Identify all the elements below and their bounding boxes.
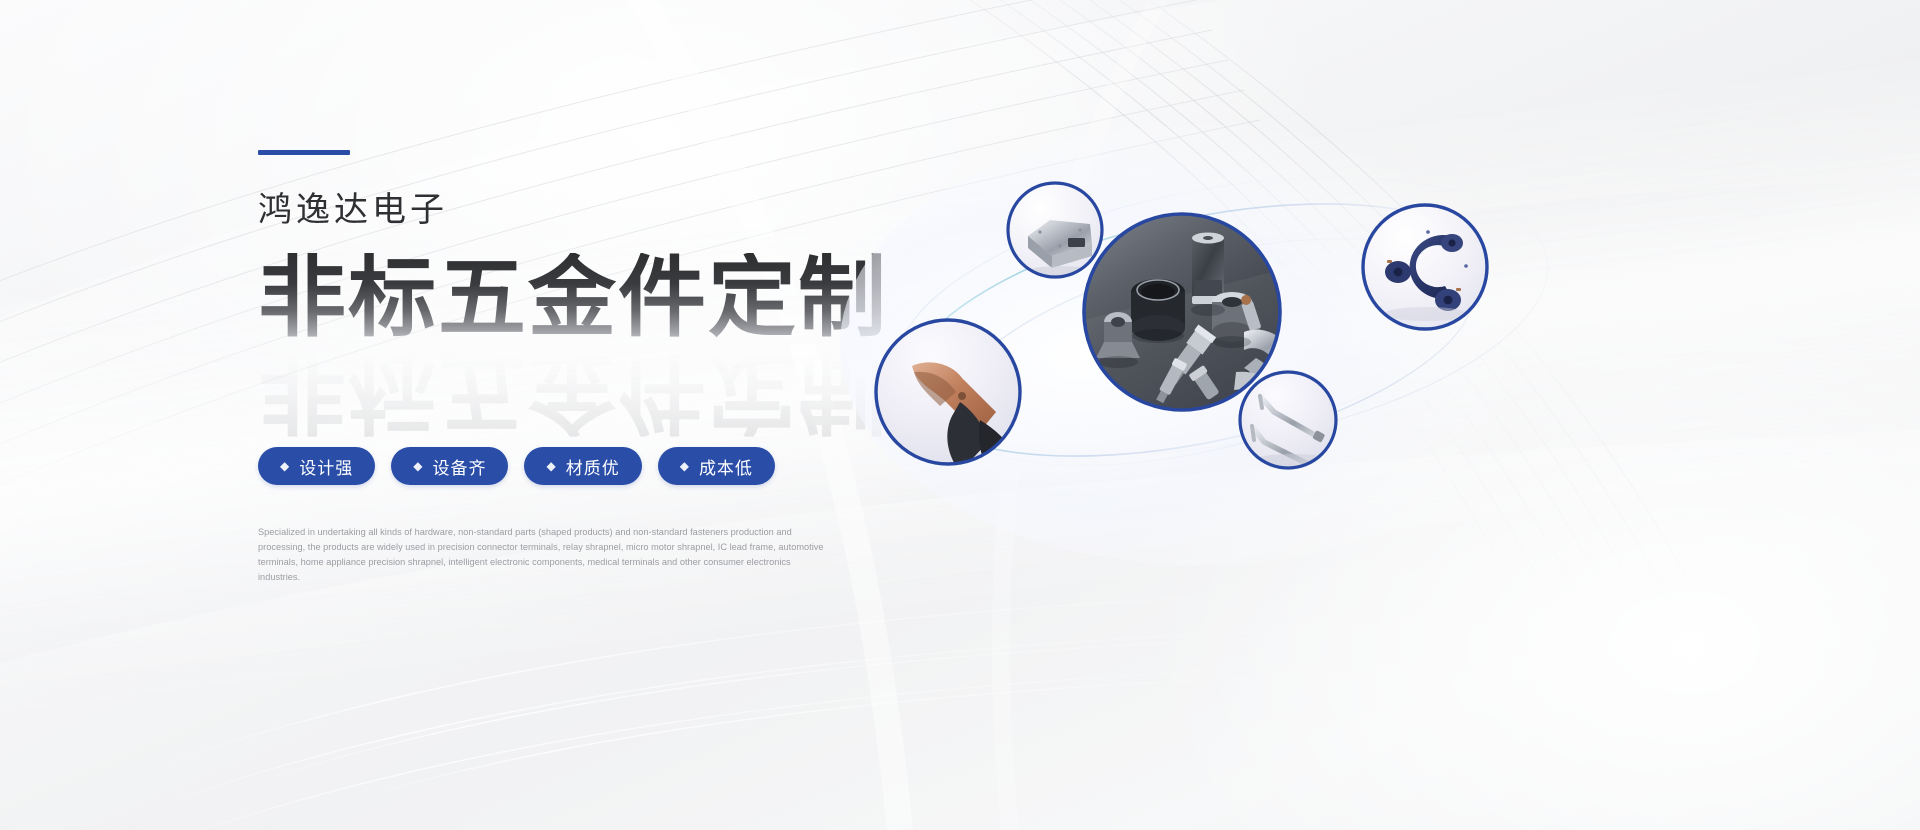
feature-badge-cost[interactable]: ◆ 成本低 <box>658 447 775 485</box>
product-showcase-cluster <box>900 120 1910 590</box>
diamond-icon: ◆ <box>546 460 556 472</box>
feature-badge-equipment[interactable]: ◆ 设备齐 <box>391 447 508 485</box>
feature-badge-label: 成本低 <box>699 454 753 479</box>
bubble-retaining-ring <box>1363 205 1487 329</box>
diamond-icon: ◆ <box>413 460 423 472</box>
feature-badge-label: 设计强 <box>299 454 353 479</box>
feature-badge-label: 设备齐 <box>432 454 486 479</box>
hero-banner: 鸿逸达电子 非标五金件定制 非标五金件定制 ◆ 设计强 ◆ 设备齐 ◆ 材质优 … <box>0 0 1920 830</box>
diamond-icon: ◆ <box>680 460 690 472</box>
accent-rule <box>258 150 350 155</box>
bubble-bent-pins <box>1240 372 1336 468</box>
feature-badge-label: 材质优 <box>566 454 620 479</box>
feature-badge-material[interactable]: ◆ 材质优 <box>524 447 641 485</box>
feature-badge-design[interactable]: ◆ 设计强 <box>258 447 375 485</box>
description-paragraph: Specialized in undertaking all kinds of … <box>258 525 830 585</box>
diamond-icon: ◆ <box>280 460 290 472</box>
headline-reflection: 非标五金件定制 <box>258 347 888 437</box>
bubble-metal-enclosure <box>1008 183 1102 278</box>
